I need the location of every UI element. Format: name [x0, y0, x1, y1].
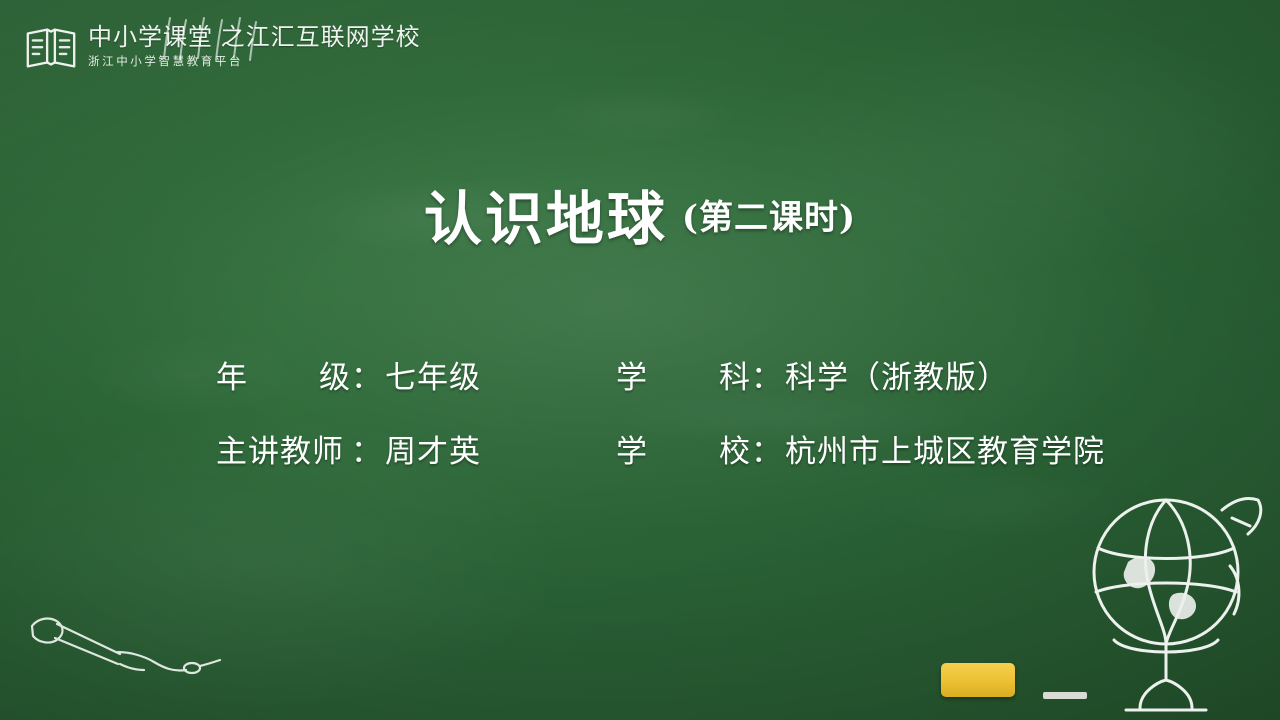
slide-title: 认识地球(第二课时) — [0, 172, 1280, 256]
title-sub-text: (第二课时) — [682, 198, 856, 238]
info-row: 主讲教师 ： 周才英 学校 ： 杭州市上城区教育学院 — [216, 426, 1105, 500]
info-grade-label-char2: 级 — [319, 352, 351, 397]
info-school-value: 杭州市上城区教育学院 — [785, 426, 1105, 471]
chalk-stick — [1043, 692, 1087, 699]
chalk-pen-icon — [24, 604, 234, 684]
info-teacher-label: 主讲教师 — [216, 426, 351, 471]
info-row: 年级 ： 七年级 学科 ： 科学（浙教版） — [216, 352, 1105, 426]
info-grade-label-char1: 年 — [216, 352, 248, 397]
logo-text-block: 中小学课堂 之江汇互联网学校 浙江中小学智慧教育平台 — [88, 25, 421, 69]
info-grade-label: 年级 — [216, 352, 351, 397]
globe-icon — [1054, 470, 1274, 720]
book-logo-icon — [22, 18, 80, 76]
title-main-text: 认识地球 — [424, 185, 668, 253]
info-grade-value: 七年级 — [385, 352, 481, 397]
info-grade-colon: ： — [351, 352, 383, 397]
platform-logo: 中小学课堂 之江汇互联网学校 浙江中小学智慧教育平台 — [22, 18, 421, 76]
info-teacher: 主讲教师 ： 周才英 — [216, 426, 616, 471]
info-teacher-value: 周才英 — [385, 426, 481, 471]
logo-subtitle: 浙江中小学智慧教育平台 — [88, 56, 421, 69]
info-school-label: 学校 — [616, 426, 751, 471]
info-subject: 学科 ： 科学（浙教版） — [616, 352, 1009, 397]
logo-title: 中小学课堂 之江汇互联网学校 — [88, 25, 421, 51]
info-subject-colon: ： — [751, 352, 783, 397]
info-school: 学校 ： 杭州市上城区教育学院 — [616, 426, 1105, 471]
info-school-colon: ： — [751, 426, 783, 471]
slide-canvas: 中小学课堂 之江汇互联网学校 浙江中小学智慧教育平台 认识地球(第二课时) 年级… — [0, 0, 1280, 720]
info-subject-label-char1: 学 — [616, 352, 648, 397]
board-eraser — [941, 663, 1015, 697]
info-teacher-colon: ： — [351, 426, 383, 471]
info-subject-label-char2: 科 — [719, 352, 751, 397]
info-grade: 年级 ： 七年级 — [216, 352, 616, 397]
info-subject-value: 科学（浙教版） — [785, 352, 1009, 397]
info-school-label-char2: 校 — [719, 426, 751, 471]
course-info-block: 年级 ： 七年级 学科 ： 科学（浙教版） 主讲教师 ： 周才英 学校 — [216, 352, 1105, 500]
info-subject-label: 学科 — [616, 352, 751, 397]
info-school-label-char1: 学 — [616, 426, 648, 471]
